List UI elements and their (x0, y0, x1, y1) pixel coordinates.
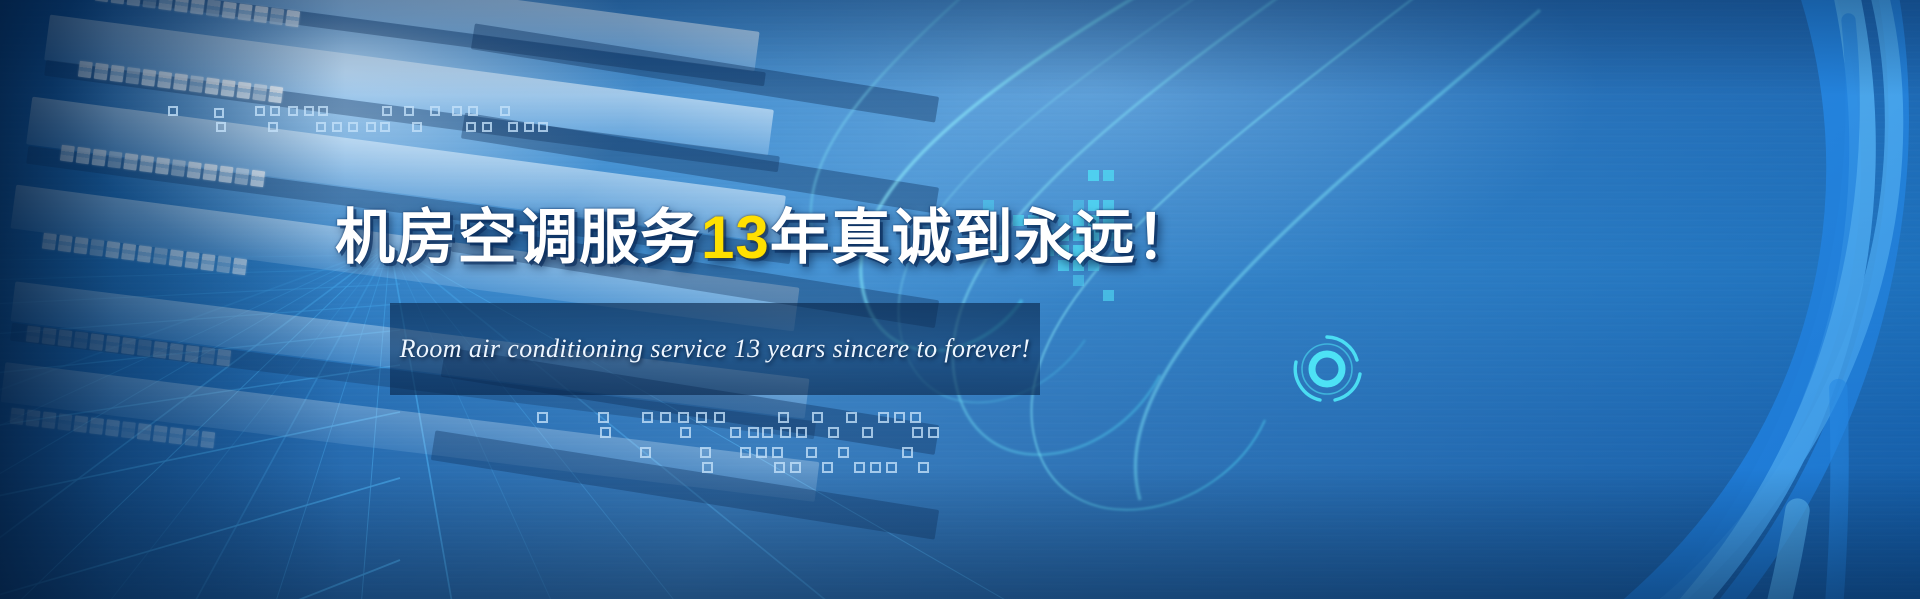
banner-text: 机房空调服务13年真诚到永远！ Room air conditioning se… (0, 0, 1920, 599)
subtitle-text: Room air conditioning service 13 years s… (390, 303, 1040, 395)
headline-prefix: 机房空调服务 (335, 204, 701, 271)
promo-banner: 机房空调服务13年真诚到永远！ Room air conditioning se… (0, 0, 1920, 599)
headline-highlight-years: 13 (701, 204, 770, 271)
headline-suffix: 年真诚到永远！ (770, 204, 1197, 271)
page-title: 机房空调服务13年真诚到永远！ (335, 208, 1197, 268)
